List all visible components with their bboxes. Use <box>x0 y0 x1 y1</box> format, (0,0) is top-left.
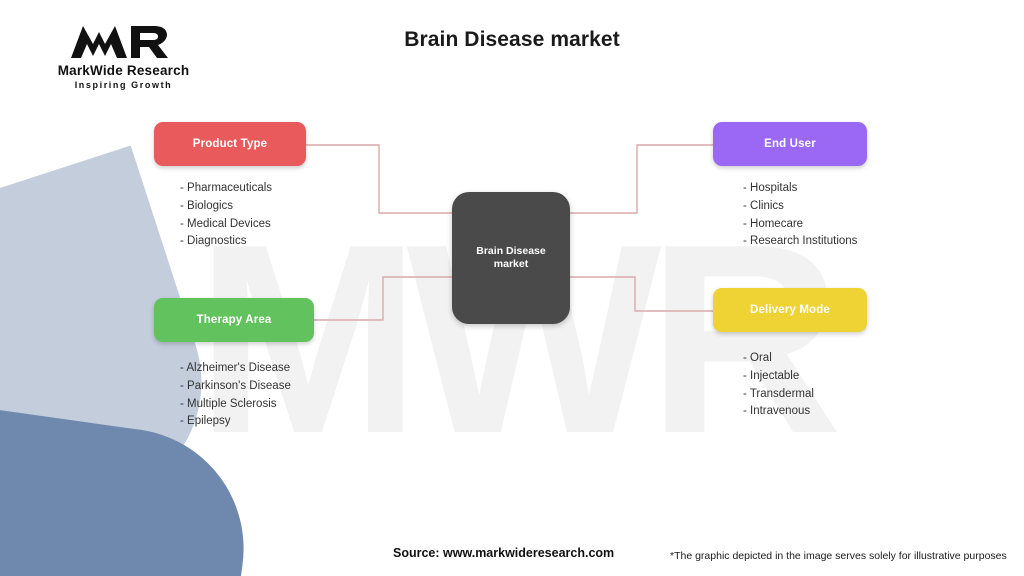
list-item: - Multiple Sclerosis <box>180 396 314 414</box>
list-item: - Pharmaceuticals <box>180 180 306 198</box>
list-item: - Clinics <box>743 198 867 216</box>
center-node-label: Brain Disease market <box>452 245 570 271</box>
list-item: - Epilepsy <box>180 413 314 431</box>
list-item: - Oral <box>743 350 867 368</box>
list-item: - Biologics <box>180 198 306 216</box>
source-text: Source: www.markwideresearch.com <box>393 546 614 560</box>
branch-header-therapy-area[interactable]: Therapy Area <box>154 298 314 342</box>
branch-list-delivery-mode: - Oral - Injectable - Transdermal - Intr… <box>713 350 867 421</box>
branch-header-end-user[interactable]: End User <box>713 122 867 166</box>
connector-therapy-area <box>314 277 452 320</box>
connector-delivery-mode <box>570 277 713 311</box>
branch-title-delivery-mode: Delivery Mode <box>750 304 830 316</box>
connector-product-type <box>306 145 452 213</box>
list-item: - Transdermal <box>743 386 867 404</box>
branch-list-end-user: - Hospitals - Clinics - Homecare - Resea… <box>713 180 867 251</box>
branch-delivery-mode: Delivery Mode - Oral - Injectable - Tran… <box>713 288 867 421</box>
list-item: - Intravenous <box>743 403 867 421</box>
branch-list-therapy-area: - Alzheimer's Disease - Parkinson's Dise… <box>154 360 314 431</box>
slide-canvas: MWR MarkWide Research Inspiring Growth B… <box>0 0 1024 576</box>
branch-therapy-area: Therapy Area - Alzheimer's Disease - Par… <box>154 298 314 431</box>
branch-title-product-type: Product Type <box>193 138 267 150</box>
list-item: - Injectable <box>743 368 867 386</box>
branch-product-type: Product Type - Pharmaceuticals - Biologi… <box>154 122 306 251</box>
branch-title-therapy-area: Therapy Area <box>197 314 272 326</box>
list-item: - Alzheimer's Disease <box>180 360 314 378</box>
list-item: - Parkinson's Disease <box>180 378 314 396</box>
list-item: - Diagnostics <box>180 233 306 251</box>
list-item: - Homecare <box>743 216 867 234</box>
connector-end-user <box>570 145 713 213</box>
branch-title-end-user: End User <box>764 138 816 150</box>
list-item: - Hospitals <box>743 180 867 198</box>
branch-header-delivery-mode[interactable]: Delivery Mode <box>713 288 867 332</box>
disclaimer-text: *The graphic depicted in the image serve… <box>670 550 1007 562</box>
list-item: - Research Institutions <box>743 233 867 251</box>
branch-list-product-type: - Pharmaceuticals - Biologics - Medical … <box>154 180 306 251</box>
list-item: - Medical Devices <box>180 216 306 234</box>
branch-header-product-type[interactable]: Product Type <box>154 122 306 166</box>
center-node[interactable]: Brain Disease market <box>452 192 570 324</box>
branch-end-user: End User - Hospitals - Clinics - Homecar… <box>713 122 867 251</box>
